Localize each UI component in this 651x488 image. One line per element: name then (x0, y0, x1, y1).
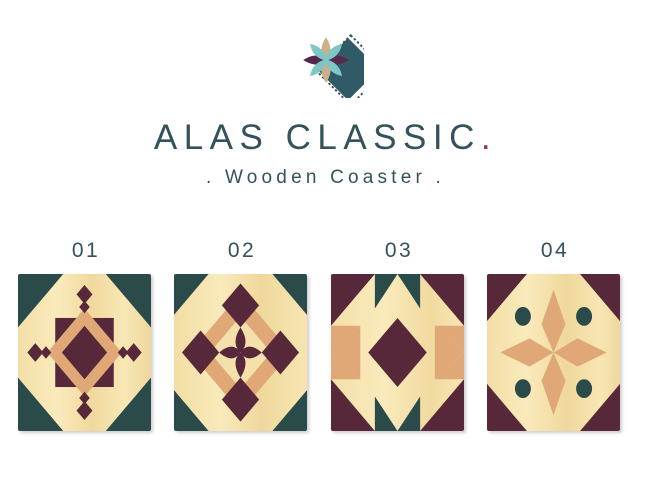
title-text: ALAS CLASSIC (154, 118, 481, 157)
product-card-01[interactable]: 01 (14, 238, 158, 448)
coaster-image-03 (327, 274, 471, 437)
product-number: 01 (14, 238, 158, 264)
coaster-pattern-diamond-square-medallion (18, 274, 151, 431)
product-row: 01 (0, 238, 651, 448)
coaster-pattern-star-triangle-diamond (331, 274, 464, 431)
brand-logo (0, 22, 651, 98)
coaster-pattern-octagon-star-dots (487, 274, 620, 431)
diamond-flower-logo-icon (288, 22, 364, 98)
product-card-04[interactable]: 04 (483, 238, 627, 448)
coaster-image-04 (483, 274, 627, 437)
product-number: 02 (170, 238, 314, 264)
product-number: 04 (483, 238, 627, 264)
product-number: 03 (327, 238, 471, 264)
page-subtitle: . Wooden Coaster . (0, 167, 651, 189)
product-card-02[interactable]: 02 (170, 238, 314, 448)
poster-page: ALAS CLASSIC. . Wooden Coaster . 01 (0, 0, 651, 488)
product-card-03[interactable]: 03 (327, 238, 471, 448)
coaster-image-02 (170, 274, 314, 437)
coaster-pattern-diamond-band-flower (174, 274, 307, 431)
title-period: . (481, 118, 497, 157)
coaster-image-01 (14, 274, 158, 437)
page-title: ALAS CLASSIC. (0, 118, 651, 158)
